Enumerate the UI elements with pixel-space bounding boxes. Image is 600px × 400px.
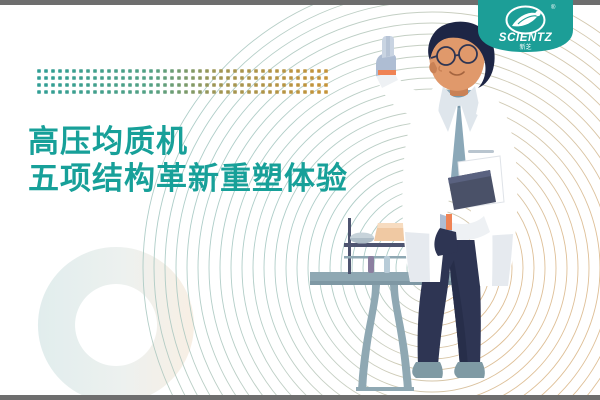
promo-banner: 高压均质机 五项结构革新重塑体验: [0, 0, 600, 400]
trademark-symbol: ®: [551, 4, 556, 11]
bottom-chrome-bar: [0, 395, 600, 400]
dot-pattern-decoration: [36, 68, 328, 96]
logo-wordmark-cn: 新芝: [519, 43, 531, 51]
brand-logo[interactable]: ® SCIENTZ 新芝: [478, 0, 573, 52]
scientist-illustration: [300, 10, 600, 400]
logo-wordmark: SCIENTZ: [499, 32, 553, 44]
